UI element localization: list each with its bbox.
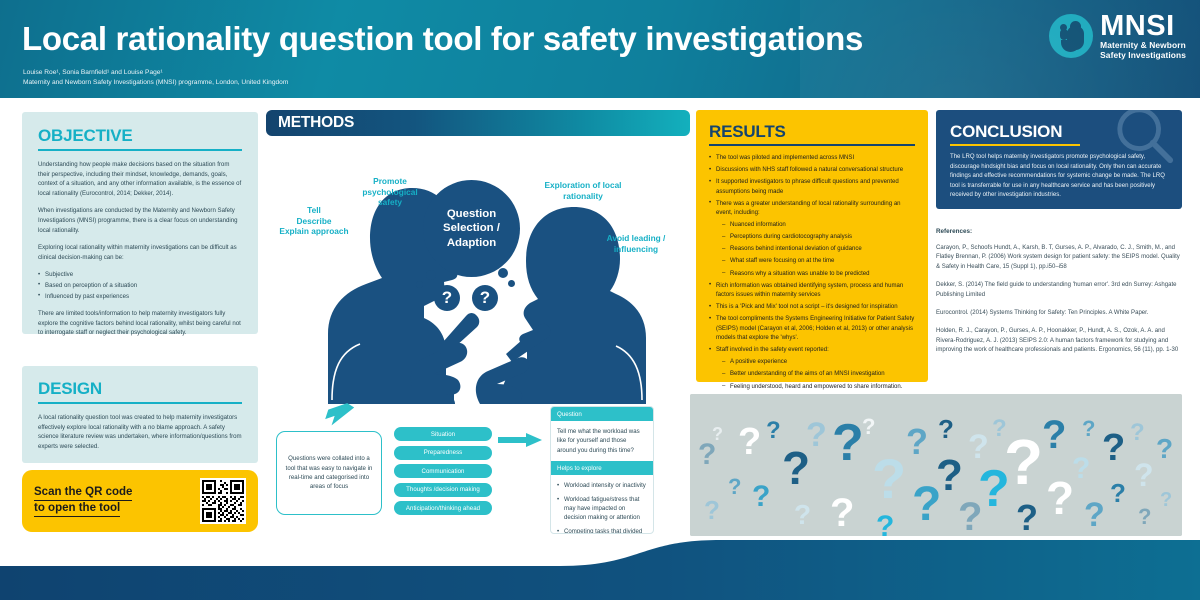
methods-panel: METHODS ? ? xyxy=(266,110,690,532)
results-panel: RESULTS The tool was piloted and impleme… xyxy=(696,110,928,382)
pill-anticipation-thinking-ahead[interactable]: Anticipation/thinking ahead xyxy=(394,501,492,515)
question-selection-bubble: Question Selection / Adaption xyxy=(423,180,520,277)
sub-list-item: Feeling understood, heard and empowered … xyxy=(716,383,915,393)
logo-tagline-1: Maternity & Newborn xyxy=(1100,40,1186,50)
sub-list-item: Better understanding of the aims of an M… xyxy=(716,370,915,380)
collated-description-box: Questions were collated into a tool that… xyxy=(276,431,382,515)
methods-header-bar: METHODS xyxy=(266,110,690,136)
list-item-text: There was a greater understanding of loc… xyxy=(716,201,901,217)
reference-entry: Holden, R. J., Carayon, P., Gurses, A. P… xyxy=(936,327,1182,355)
objective-title: OBJECTIVE xyxy=(38,126,242,145)
sub-list-item: What staff were focusing on at the time xyxy=(716,257,915,267)
poster-footer: 06.2025.RCOG.2/LRVv1 The MNSI programme … xyxy=(0,540,1200,600)
conclusion-body: The LRQ tool helps maternity investigato… xyxy=(950,153,1168,201)
objective-p3: Exploring local rationality within mater… xyxy=(38,243,242,262)
design-body: A local rationality question tool was cr… xyxy=(38,413,242,451)
svg-text:?: ? xyxy=(906,421,928,462)
results-list: The tool was piloted and implemented acr… xyxy=(709,154,915,392)
list-item-text: Rich information was obtained identifyin… xyxy=(716,283,903,299)
objective-p4: There are limited tools/information to h… xyxy=(38,309,242,338)
methods-title: METHODS xyxy=(278,114,354,132)
question-mark-icon: ? xyxy=(472,285,498,311)
mnsi-logo-mark-icon xyxy=(1049,14,1093,58)
scan-qr-cta[interactable]: Scan the QR code to open the tool xyxy=(22,470,258,532)
svg-text:?: ? xyxy=(1016,497,1038,536)
svg-text:?: ? xyxy=(832,414,864,472)
svg-text:?: ? xyxy=(712,424,723,444)
references-block: References: Carayon, P., Schoofs Hundt, … xyxy=(936,228,1182,365)
list-item: There was a greater understanding of loc… xyxy=(709,200,915,279)
question-marks-image: ? ? ? ? ? ? ? ? ? ? ? ? ? ? ? ? ? ? ? ? xyxy=(690,394,1182,536)
svg-text:?: ? xyxy=(1084,496,1105,534)
page-title: Local rationality question tool for safe… xyxy=(22,20,863,58)
authors-line: Louise Roe¹, Sonia Barnfield¹ and Louise… xyxy=(23,68,288,78)
svg-text:?: ? xyxy=(830,491,854,535)
objective-bullets: Subjective Based on perception of a situ… xyxy=(38,270,242,301)
diagram-label-promote: Promote psychological safety xyxy=(350,176,430,208)
sub-list: Nuanced information Perceptions during c… xyxy=(716,221,915,279)
arrow-right-icon xyxy=(498,433,542,447)
svg-text:?: ? xyxy=(876,510,894,536)
pill-situation[interactable]: Situation xyxy=(394,427,492,441)
svg-text:?: ? xyxy=(1110,478,1126,508)
svg-text:?: ? xyxy=(1138,504,1151,529)
logo-tagline-2: Safety Investigations xyxy=(1100,50,1186,60)
reference-entry: Carayon, P., Schoofs Hundt, A., Karsh, B… xyxy=(936,244,1182,272)
helps-to-explore-body: Workload intensity or inactivity Workloa… xyxy=(551,475,653,534)
design-rule xyxy=(38,402,242,404)
question-card-header: Question xyxy=(551,407,653,421)
list-item: Workload intensity or inactivity xyxy=(557,481,647,490)
list-item: Subjective xyxy=(38,270,242,280)
qr-code-icon[interactable] xyxy=(200,478,246,524)
svg-text:?: ? xyxy=(1004,426,1043,498)
sub-list-item: A positive experience xyxy=(716,358,915,368)
example-question-card: Question Tell me what the workload was l… xyxy=(550,406,654,534)
results-title: RESULTS xyxy=(709,122,915,141)
thought-dot xyxy=(426,270,436,280)
reference-entry: Eurocontrol. (2014) Systems Thinking for… xyxy=(936,309,1182,318)
list-item-text: The tool compliments the Systems Enginee… xyxy=(716,316,914,341)
svg-text:?: ? xyxy=(1082,416,1095,441)
list-item-text: It supported investigators to phrase dif… xyxy=(716,179,899,195)
svg-text:?: ? xyxy=(936,451,963,500)
question-mark-icon: ? xyxy=(434,285,460,311)
results-rule xyxy=(709,144,915,146)
objective-p2: When investigations are conducted by the… xyxy=(38,206,242,235)
list-item: The tool was piloted and implemented acr… xyxy=(709,154,915,164)
methods-diagram: ? ? Question Selection / Adaption Tell D… xyxy=(266,138,690,404)
svg-text:?: ? xyxy=(806,416,827,454)
diagram-label-exploration: Exploration of local rationality xyxy=(544,180,622,201)
list-item: Competing tasks that divided attention xyxy=(557,527,647,534)
svg-text:?: ? xyxy=(1130,419,1145,446)
conclusion-rule xyxy=(950,144,1080,146)
pill-communication[interactable]: Communication xyxy=(394,464,492,478)
list-item: Based on perception of a situation xyxy=(38,281,242,291)
svg-text:?: ? xyxy=(766,417,781,444)
design-title: DESIGN xyxy=(38,379,242,398)
thought-dot xyxy=(508,280,515,287)
poster-header: Local rationality question tool for safe… xyxy=(0,0,1200,98)
svg-text:?: ? xyxy=(752,480,770,513)
mnsi-logo: MNSI Maternity & Newborn Safety Investig… xyxy=(1049,12,1186,61)
svg-text:?: ? xyxy=(794,499,811,530)
svg-text:?: ? xyxy=(1046,472,1074,524)
svg-text:?: ? xyxy=(872,447,906,510)
sub-list-item: Perceptions during cardiotocography anal… xyxy=(716,233,915,243)
reference-entry: Dekker, S. (2014) The field guide to und… xyxy=(936,281,1182,300)
logo-wordmark: MNSI xyxy=(1100,12,1186,40)
objective-body: Understanding how people make decisions … xyxy=(38,160,242,338)
list-item-text: Staff involved in the safety event repor… xyxy=(716,347,829,353)
methods-flow: Questions were collated into a tool that… xyxy=(266,406,690,534)
list-item: It supported investigators to phrase dif… xyxy=(709,178,915,197)
thought-dot xyxy=(416,281,423,288)
objective-rule xyxy=(38,149,242,151)
svg-text:?: ? xyxy=(1156,433,1173,464)
svg-text:?: ? xyxy=(1160,489,1172,511)
list-item-text: Discussions with NHS staff followed a na… xyxy=(716,167,903,173)
footer-shape xyxy=(0,540,1200,600)
svg-text:?: ? xyxy=(738,421,761,463)
pill-preparedness[interactable]: Preparedness xyxy=(394,446,492,460)
conclusion-panel: CONCLUSION The LRQ tool helps maternity … xyxy=(936,110,1182,209)
focus-area-pills: Situation Preparedness Communication Tho… xyxy=(394,427,492,520)
svg-text:?: ? xyxy=(704,495,720,525)
sub-list-item: Reasons behind intentional deviation of … xyxy=(716,245,915,255)
thought-dot xyxy=(498,268,508,278)
sub-list-item: Reasons why a situation was unable to be… xyxy=(716,270,915,280)
list-item: Workload fatigue/stress that may have im… xyxy=(557,495,647,523)
list-item: Influenced by past experiences xyxy=(38,292,242,302)
svg-text:?: ? xyxy=(1102,427,1125,469)
helps-to-explore-header: Helps to explore xyxy=(551,461,653,475)
qr-cta-text: Scan the QR code to open the tool xyxy=(34,485,132,517)
qr-cta-line1: Scan the QR code xyxy=(34,485,132,501)
objective-panel: OBJECTIVE Understanding how people make … xyxy=(22,112,258,334)
diagram-label-avoid: Avoid leading / influencing xyxy=(586,233,686,254)
qr-cta-line2: to open the tool xyxy=(34,501,120,517)
list-item: This is a 'Pick and Mix' tool not a scri… xyxy=(709,303,915,313)
list-item: Discussions with NHS staff followed a na… xyxy=(709,166,915,176)
svg-text:?: ? xyxy=(728,474,741,499)
authors-block: Louise Roe¹, Sonia Barnfield¹ and Louise… xyxy=(23,68,288,87)
svg-text:?: ? xyxy=(938,414,954,444)
list-item: Staff involved in the safety event repor… xyxy=(709,346,915,392)
question-card-text: Tell me what the workload was like for y… xyxy=(551,421,653,461)
references-title: References: xyxy=(936,228,1182,235)
affiliation-line: Maternity and Newborn Safety Investigati… xyxy=(23,78,288,88)
sub-list-item: Nuanced information xyxy=(716,221,915,231)
list-item-text: The tool was piloted and implemented acr… xyxy=(716,155,854,161)
conclusion-title: CONCLUSION xyxy=(950,122,1168,141)
objective-p1: Understanding how people make decisions … xyxy=(38,160,242,198)
diagram-label-tell: Tell Describe Explain approach xyxy=(268,205,360,237)
svg-text:?: ? xyxy=(1072,452,1090,485)
design-panel: DESIGN A local rationality question tool… xyxy=(22,366,258,463)
svg-text:?: ? xyxy=(1134,457,1154,493)
poster-root: Local rationality question tool for safe… xyxy=(0,0,1200,600)
pill-thoughts-decision-making[interactable]: Thoughts /decision making xyxy=(394,483,492,497)
sub-list: A positive experience Better understandi… xyxy=(716,358,915,392)
svg-text:?: ? xyxy=(862,414,875,439)
svg-text:?: ? xyxy=(1042,413,1066,457)
list-item: The tool compliments the Systems Enginee… xyxy=(709,315,915,344)
design-p1: A local rationality question tool was cr… xyxy=(38,413,242,451)
list-item-text: This is a 'Pick and Mix' tool not a scri… xyxy=(716,304,898,310)
list-item: Rich information was obtained identifyin… xyxy=(709,282,915,301)
